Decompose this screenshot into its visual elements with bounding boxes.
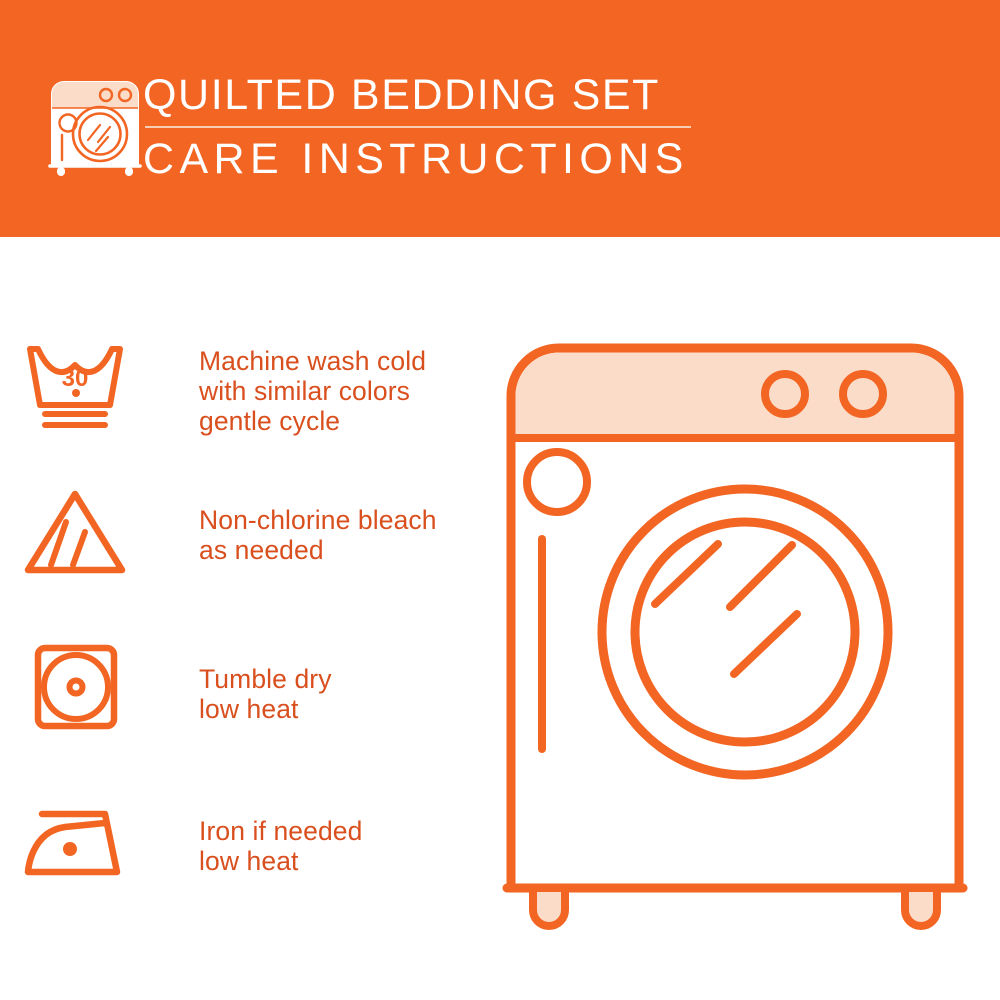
leg-left	[533, 888, 565, 926]
iron-low-heat-icon	[0, 787, 150, 897]
care-text-line: as needed	[199, 535, 437, 565]
care-instruction-text: Tumble dry low heat	[199, 664, 332, 724]
leg-right	[905, 888, 937, 926]
wash-temperature-value: 30	[62, 365, 89, 392]
care-instruction-text: Iron if needed low heat	[199, 816, 362, 876]
knob-right[interactable]	[843, 374, 883, 414]
page-subtitle: CARE INSTRUCTIONS	[143, 133, 703, 185]
page-title: QUILTED BEDDING SET	[143, 70, 703, 120]
tumble-dry-low-icon	[0, 635, 150, 745]
care-text-line: Machine wash cold	[199, 346, 426, 376]
washing-machine-icon	[44, 72, 146, 176]
control-panel	[516, 353, 955, 439]
care-instruction-text: Non-chlorine bleach as needed	[199, 505, 437, 565]
care-text-line: gentle cycle	[199, 406, 426, 436]
care-text-line: Tumble dry	[199, 664, 332, 694]
content-area: 30 Machine wash cold with similar colors…	[0, 237, 1000, 1000]
care-text-line: with similar colors	[199, 376, 426, 406]
care-instruction-text: Machine wash cold with similar colors ge…	[199, 346, 426, 436]
machine-wash-30-gentle-icon: 30	[0, 332, 150, 442]
title-divider	[145, 126, 691, 128]
care-text-line: Iron if needed	[199, 816, 362, 846]
knob-left[interactable]	[765, 374, 805, 414]
header-banner: QUILTED BEDDING SET CARE INSTRUCTIONS	[0, 0, 1000, 237]
header-title-block: QUILTED BEDDING SET CARE INSTRUCTIONS	[143, 70, 703, 185]
non-chlorine-bleach-icon	[0, 477, 150, 587]
care-text-line: low heat	[199, 846, 362, 876]
washing-machine-illustration	[495, 332, 975, 932]
care-text-line: Non-chlorine bleach	[199, 505, 437, 535]
care-text-line: low heat	[199, 694, 332, 724]
